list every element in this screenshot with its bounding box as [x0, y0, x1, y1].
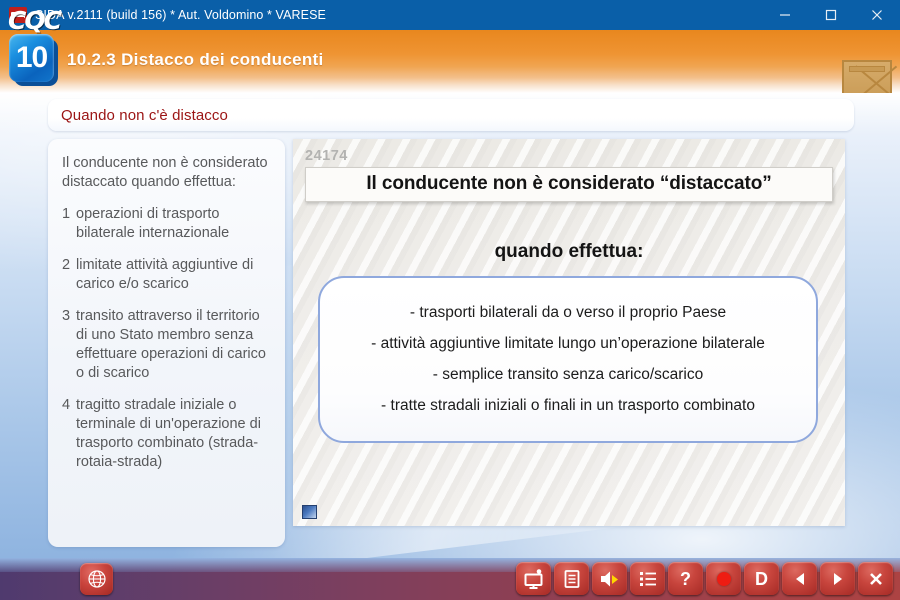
list-icon[interactable]	[630, 562, 665, 595]
crate-icon	[842, 60, 892, 93]
page-title: 10.2.3 Distacco dei conducenti	[67, 50, 324, 70]
list-item: 3 transito attraverso il territorio di u…	[62, 307, 271, 383]
globe-icon[interactable]	[80, 563, 113, 595]
window-titlebar: SIDA v.2111 (build 156) * Aut. Voldomino…	[0, 0, 900, 30]
window-title: SIDA v.2111 (build 156) * Aut. Voldomino…	[35, 8, 326, 22]
list-item-label: limitate attività aggiuntive di carico e…	[76, 256, 271, 294]
record-icon[interactable]	[706, 562, 741, 595]
image-thumbnail-icon[interactable]	[302, 505, 317, 519]
d-button-icon[interactable]: D	[744, 562, 779, 595]
bullet-line: - trasporti bilaterali da o verso il pro…	[410, 304, 726, 322]
sidebar-intro-text: Il conducente non è considerato distacca…	[62, 154, 271, 192]
document-icon[interactable]	[554, 562, 589, 595]
module-number-label: 10	[16, 43, 47, 73]
bullet-line: - semplice transito senza carico/scarico	[433, 366, 704, 384]
bullet-line: - attività aggiuntive limitate lungo un’…	[371, 335, 765, 353]
list-item-number: 1	[62, 205, 76, 243]
previous-icon[interactable]	[782, 562, 817, 595]
bullet-line: - tratte stradali iniziali o finali in u…	[381, 397, 755, 415]
next-icon[interactable]	[820, 562, 855, 595]
window-controls	[762, 0, 900, 30]
slide-reference-number: 24174	[305, 148, 348, 164]
list-item: 1 operazioni di trasporto bilaterale int…	[62, 205, 271, 243]
application-window: SIDA v.2111 (build 156) * Aut. Voldomino…	[0, 0, 900, 600]
slide-bullet-box: - trasporti bilaterali da o verso il pro…	[318, 276, 818, 443]
slide-content-panel: 24174 Il conducente non è considerato “d…	[293, 139, 845, 526]
slide-subheadline-text: quando effettua:	[293, 241, 845, 263]
module-number-badge: 10	[9, 34, 61, 88]
list-item-label: tragitto stradale iniziale o terminale d…	[76, 396, 271, 472]
minimize-button[interactable]	[762, 0, 808, 30]
close-icon[interactable]	[858, 562, 893, 595]
help-icon[interactable]: ?	[668, 562, 703, 595]
slide-headline-text: Il conducente non è considerato “distacc…	[366, 173, 771, 194]
audio-icon[interactable]	[592, 562, 627, 595]
maximize-button[interactable]	[808, 0, 854, 30]
module-header: 10 10.2.3 Distacco dei conducenti	[0, 30, 900, 93]
help-label: ?	[680, 570, 691, 588]
list-item-label: transito attraverso il territorio di uno…	[76, 307, 271, 383]
cqc-logo: CQC	[8, 6, 60, 35]
section-subtitle-text: Quando non c'è distacco	[61, 107, 228, 124]
list-item-number: 2	[62, 256, 76, 294]
toolbar-button-group: ? D	[516, 562, 893, 595]
list-item: 4 tragitto stradale iniziale o terminale…	[62, 396, 271, 472]
d-button-label: D	[755, 570, 768, 588]
presentation-icon[interactable]	[516, 562, 551, 595]
list-item-label: operazioni di trasporto bilaterale inter…	[76, 205, 271, 243]
list-item-number: 3	[62, 307, 76, 383]
record-dot	[717, 572, 731, 586]
list-item: 2 limitate attività aggiuntive di carico…	[62, 256, 271, 294]
slide-headline-box: Il conducente non è considerato “distacc…	[305, 167, 833, 202]
list-item-number: 4	[62, 396, 76, 472]
section-subtitle-bar: Quando non c'è distacco	[48, 99, 854, 131]
sidebar-notes-panel: Il conducente non è considerato distacca…	[48, 139, 285, 547]
close-button[interactable]	[854, 0, 900, 30]
